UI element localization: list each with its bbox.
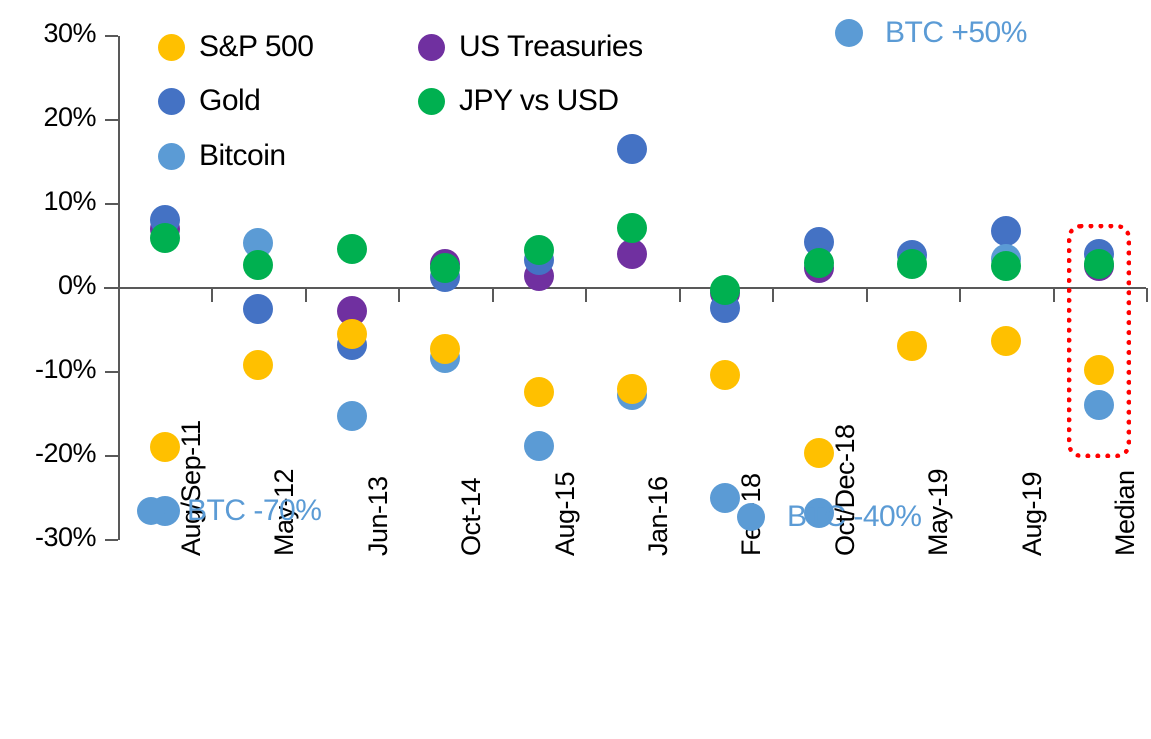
data-point bbox=[617, 134, 647, 164]
x-axis-tick bbox=[679, 288, 681, 302]
legend-label: Bitcoin bbox=[199, 139, 286, 173]
y-axis-tick-label: 20% bbox=[0, 102, 96, 133]
data-point bbox=[897, 331, 927, 361]
x-axis-tick-label: Oct-14 bbox=[456, 478, 487, 556]
legend-item-bitcoin[interactable]: Bitcoin bbox=[158, 139, 286, 173]
legend-label: US Treasuries bbox=[459, 30, 643, 64]
x-axis-tick bbox=[1146, 288, 1148, 302]
annotation-label: BTC -70% bbox=[187, 494, 321, 528]
legend-label: Gold bbox=[199, 84, 260, 118]
data-point bbox=[524, 431, 554, 461]
data-point bbox=[617, 213, 647, 243]
data-point bbox=[337, 319, 367, 349]
data-point bbox=[710, 360, 740, 390]
chart-root: 30%20%10%0%-10%-20%-30% Aug/Sep-11May-12… bbox=[0, 0, 1151, 739]
data-point bbox=[430, 253, 460, 283]
data-point bbox=[337, 234, 367, 264]
y-axis-tick bbox=[105, 455, 118, 457]
legend-marker-icon bbox=[418, 88, 445, 115]
x-axis-tick bbox=[211, 288, 213, 302]
annotation-btc-40: BTC -40% bbox=[737, 500, 921, 534]
data-point bbox=[524, 377, 554, 407]
y-axis-tick bbox=[105, 35, 118, 37]
data-point bbox=[991, 216, 1021, 246]
data-point bbox=[617, 239, 647, 269]
data-point bbox=[150, 223, 180, 253]
x-axis-tick bbox=[585, 288, 587, 302]
data-point bbox=[804, 248, 834, 278]
y-axis-tick-label: -20% bbox=[0, 438, 96, 469]
y-axis-tick bbox=[105, 539, 118, 541]
data-point bbox=[243, 350, 273, 380]
x-axis-tick-label: May-19 bbox=[923, 469, 954, 556]
data-point bbox=[243, 250, 273, 280]
y-axis-tick bbox=[105, 371, 118, 373]
annotation-btc-50: BTC +50% bbox=[835, 16, 1027, 50]
legend-item-gold[interactable]: Gold bbox=[158, 84, 260, 118]
data-point bbox=[991, 251, 1021, 281]
data-point bbox=[710, 275, 740, 305]
x-axis-tick bbox=[398, 288, 400, 302]
zero-baseline bbox=[104, 287, 1146, 289]
legend-item-s-p-500[interactable]: S&P 500 bbox=[158, 30, 313, 64]
legend-marker-icon bbox=[158, 88, 185, 115]
legend-marker-icon bbox=[158, 143, 185, 170]
annotation-marker-icon bbox=[835, 19, 863, 47]
annotation-marker-icon bbox=[137, 497, 165, 525]
x-axis-tick-label: Oct/Dec-18 bbox=[830, 424, 861, 556]
data-point bbox=[897, 249, 927, 279]
legend-item-us-treasuries[interactable]: US Treasuries bbox=[418, 30, 643, 64]
legend-marker-icon bbox=[158, 34, 185, 61]
legend-marker-icon bbox=[418, 34, 445, 61]
data-point bbox=[991, 326, 1021, 356]
y-axis-tick bbox=[105, 203, 118, 205]
x-axis-tick-label: Jun-13 bbox=[363, 476, 394, 556]
x-axis-tick bbox=[772, 288, 774, 302]
x-axis-tick-label: Aug/Sep-11 bbox=[176, 420, 207, 556]
annotation-label: BTC +50% bbox=[885, 16, 1027, 50]
x-axis-tick-label: Jan-16 bbox=[643, 476, 674, 556]
y-axis-tick-label: -10% bbox=[0, 354, 96, 385]
data-point bbox=[524, 235, 554, 265]
annotation-btc-70: BTC -70% bbox=[137, 494, 321, 528]
data-point bbox=[337, 401, 367, 431]
annotation-label: BTC -40% bbox=[787, 500, 921, 534]
x-axis-tick-label: Median bbox=[1110, 470, 1141, 556]
x-axis-tick bbox=[866, 288, 868, 302]
annotation-marker-icon bbox=[737, 503, 765, 531]
x-axis-tick bbox=[959, 288, 961, 302]
legend-item-jpy-vs-usd[interactable]: JPY vs USD bbox=[418, 84, 619, 118]
y-axis-tick-label: -30% bbox=[0, 522, 96, 553]
y-axis-tick-label: 10% bbox=[0, 186, 96, 217]
y-axis-tick-label: 0% bbox=[0, 270, 96, 301]
x-axis-tick-label: Aug-19 bbox=[1017, 472, 1048, 556]
x-axis-tick bbox=[305, 288, 307, 302]
legend-label: S&P 500 bbox=[199, 30, 313, 64]
median-highlight-box bbox=[1067, 224, 1131, 458]
x-axis-tick bbox=[492, 288, 494, 302]
x-axis-tick-label: Aug-15 bbox=[550, 472, 581, 556]
legend-label: JPY vs USD bbox=[459, 84, 619, 118]
y-axis-tick bbox=[105, 119, 118, 121]
data-point bbox=[617, 374, 647, 404]
x-axis-tick bbox=[1053, 288, 1055, 302]
data-point bbox=[243, 294, 273, 324]
y-axis-tick-label: 30% bbox=[0, 18, 96, 49]
